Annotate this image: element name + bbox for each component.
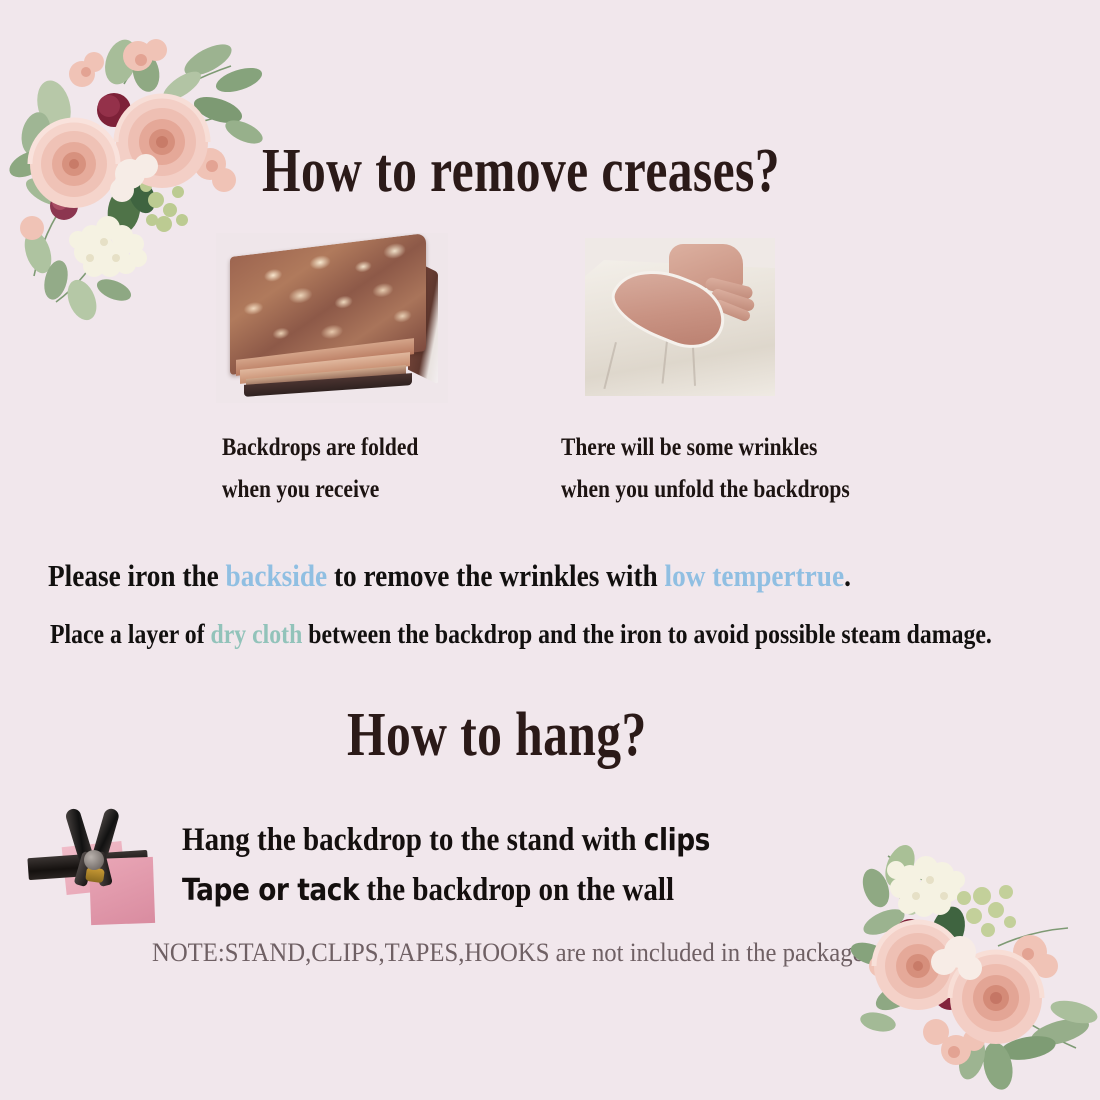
instr-iron-part2: to remove the wrinkles with [327, 558, 664, 593]
instruction-iron-backside: Please iron the backside to remove the w… [48, 558, 851, 594]
page-title-remove-creases: How to remove creases? [262, 136, 780, 207]
wrinkle-hand-photo [585, 238, 775, 396]
hang-instruction-tape: Tape or tack the backdrop on the wall [182, 872, 674, 909]
hang-instruction-clips: Hang the backdrop to the stand with clip… [182, 822, 710, 859]
package-contents-note: NOTE:STAND,CLIPS,TAPES,HOOKS are not inc… [152, 938, 864, 968]
instruction-dry-cloth: Place a layer of dry cloth between the b… [50, 619, 992, 650]
folded-fabric-illustration [222, 241, 444, 399]
floral-bouquet-bottom-right-icon [838, 826, 1100, 1096]
caption-wrinkle-line1: There will be some wrinkles [561, 427, 850, 469]
instr-iron-part3: . [844, 558, 851, 593]
instr-cloth-part1: Place a layer of [50, 619, 211, 649]
hang-line1-emphasis-clips: clips [644, 823, 710, 858]
instruction-poster: How to remove creases? Backdrops are fol… [0, 0, 1100, 1100]
hang-line1-text: Hang the backdrop to the stand with [182, 822, 644, 858]
instr-iron-highlight-backside: backside [226, 558, 328, 593]
instr-cloth-part2: between the backdrop and the iron to avo… [302, 619, 992, 649]
caption-folded-line1: Backdrops are folded [222, 427, 418, 469]
hang-line2-emphasis-tape-tack: Tape or tack [182, 873, 359, 908]
page-title-how-to-hang: How to hang? [347, 700, 647, 771]
instr-iron-highlight-temperature: low tempertrue [665, 558, 845, 593]
note-caps: NOTE:STAND,CLIPS,TAPES,HOOKS [152, 938, 549, 967]
caption-folded-line2: when you receive [222, 469, 418, 511]
instr-iron-part1: Please iron the [48, 558, 226, 593]
instr-cloth-highlight-dry-cloth: dry cloth [211, 619, 303, 649]
caption-wrinkle: There will be some wrinkles when you unf… [561, 427, 850, 511]
caption-wrinkle-line2: when you unfold the backdrops [561, 469, 850, 511]
hang-line2-text: the backdrop on the wall [359, 872, 674, 908]
folded-backdrop-photo [216, 233, 448, 403]
caption-folded: Backdrops are folded when you receive [222, 427, 418, 511]
note-rest: are not included in the package [549, 938, 863, 967]
spring-clamp-clip-icon [28, 806, 188, 926]
